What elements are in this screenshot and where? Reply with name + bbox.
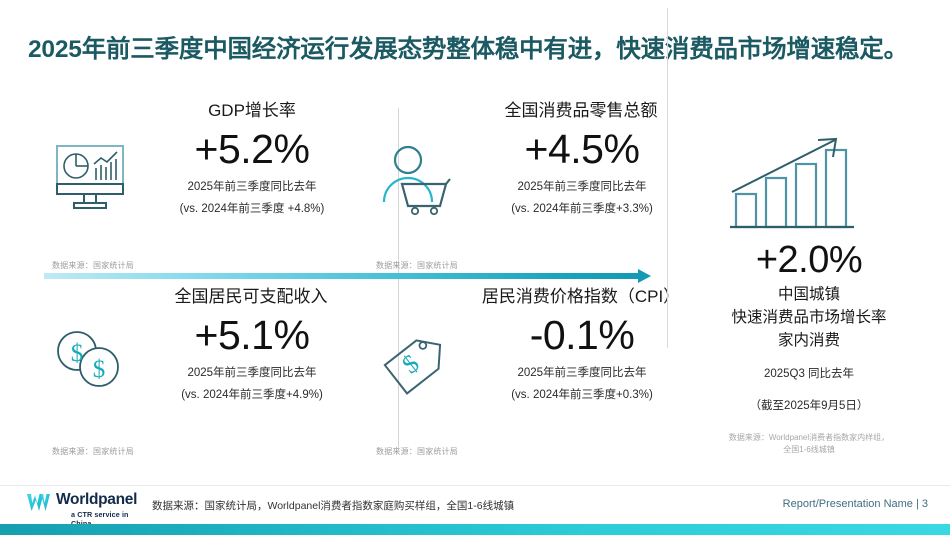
report-name: Report/Presentation Name | 3 [783,498,928,510]
footer-source: 数据来源：国家统计局，Worldpanel消费者指数家庭购买样组，全国1-6线城… [152,498,514,513]
bottom-accent-bar [0,524,950,535]
highlight-panel: +2.0% 中国城镇 快速消费品市场增长率 家内消费 2025Q3 同比去年 （… [678,122,940,456]
metric-heading: 居民消费价格指数（CPI） [452,286,710,307]
logo-name: Worldpanel [56,491,137,509]
metric-card-cpi: $ 居民消费价格指数（CPI） -0.1% 2025年前三季度同比去年 (vs.… [366,286,696,461]
monitor-chart-icon [44,138,136,216]
metric-sub-line2: (vs. 2024年前三季度+0.3%) [466,386,698,404]
metric-heading: GDP增长率 [136,100,368,121]
slide-root: 2025年前三季度中国经济运行发展态势整体稳中有进，快速消费品市场增速稳定。 [0,0,950,535]
svg-text:$: $ [396,349,424,380]
metric-sub-line1: 2025年前三季度同比去年 [466,178,698,196]
growth-bar-arrow-icon [678,122,940,230]
highlight-sub-line1: 2025Q3 同比去年 [678,364,940,384]
footer-divider [0,485,950,486]
metric-heading: 全国居民可支配收入 [122,286,380,307]
metric-sub-line2: (vs. 2024年前三季度+4.9%) [136,386,368,404]
metric-heading: 全国消费品零售总额 [452,100,710,121]
metric-body: 全国消费品零售总额 +4.5% 2025年前三季度同比去年 (vs. 2024年… [466,100,698,218]
metric-source: 数据来源：国家统计局 [376,446,458,457]
gradient-arrow-divider [44,268,659,284]
highlight-value: +2.0% [678,238,940,283]
highlight-source-line2: 全国1-6线城镇 [678,444,940,456]
highlight-source-line1: 数据来源：Worldpanel消费者指数家内样组， [678,432,940,444]
metric-sub-line2: (vs. 2024年前三季度+3.3%) [466,200,698,218]
metric-sub-line2: (vs. 2024年前三季度 +4.8%) [136,200,368,218]
metric-sub-line1: 2025年前三季度同比去年 [136,364,368,382]
metric-sub-line1: 2025年前三季度同比去年 [136,178,368,196]
metric-sub-line1: 2025年前三季度同比去年 [466,364,698,382]
metric-source: 数据来源：国家统计局 [52,446,134,457]
shopper-cart-icon [374,138,466,216]
metric-value: +5.1% [136,311,368,359]
logo-w-icon [26,493,52,513]
metric-body: 居民消费价格指数（CPI） -0.1% 2025年前三季度同比去年 (vs. 2… [466,286,698,404]
worldpanel-logo: Worldpanel a CTR service in China [26,491,150,523]
metric-card-gdp: GDP增长率 +5.2% 2025年前三季度同比去年 (vs. 2024年前三季… [36,100,366,275]
highlight-label-line2: 快速消费品市场增长率 [678,308,940,329]
highlight-label-line3: 家内消费 [678,331,940,352]
vertical-divider-right [667,8,668,348]
metric-card-income: $ $ 全国居民可支配收入 +5.1% 2025年前三季度同比去年 (vs. 2… [36,286,366,461]
svg-text:$: $ [93,356,106,383]
metric-value: +4.5% [466,125,698,173]
metric-value: +5.2% [136,125,368,173]
highlight-label-line1: 中国城镇 [678,285,940,306]
price-tag-icon: $ [374,324,466,402]
metric-card-retail: 全国消费品零售总额 +4.5% 2025年前三季度同比去年 (vs. 2024年… [366,100,696,275]
metric-body: 全国居民可支配收入 +5.1% 2025年前三季度同比去年 (vs. 2024年… [136,286,368,404]
arrow-bar [44,273,640,279]
coins-dollar-icon: $ $ [44,324,136,402]
arrow-head-icon [638,269,651,283]
highlight-sub-line2: （截至2025年9月5日） [678,396,940,416]
metric-value: -0.1% [466,311,698,359]
metric-body: GDP增长率 +5.2% 2025年前三季度同比去年 (vs. 2024年前三季… [136,100,368,218]
svg-text:$: $ [71,340,84,367]
page-title: 2025年前三季度中国经济运行发展态势整体稳中有进，快速消费品市场增速稳定。 [28,30,928,65]
